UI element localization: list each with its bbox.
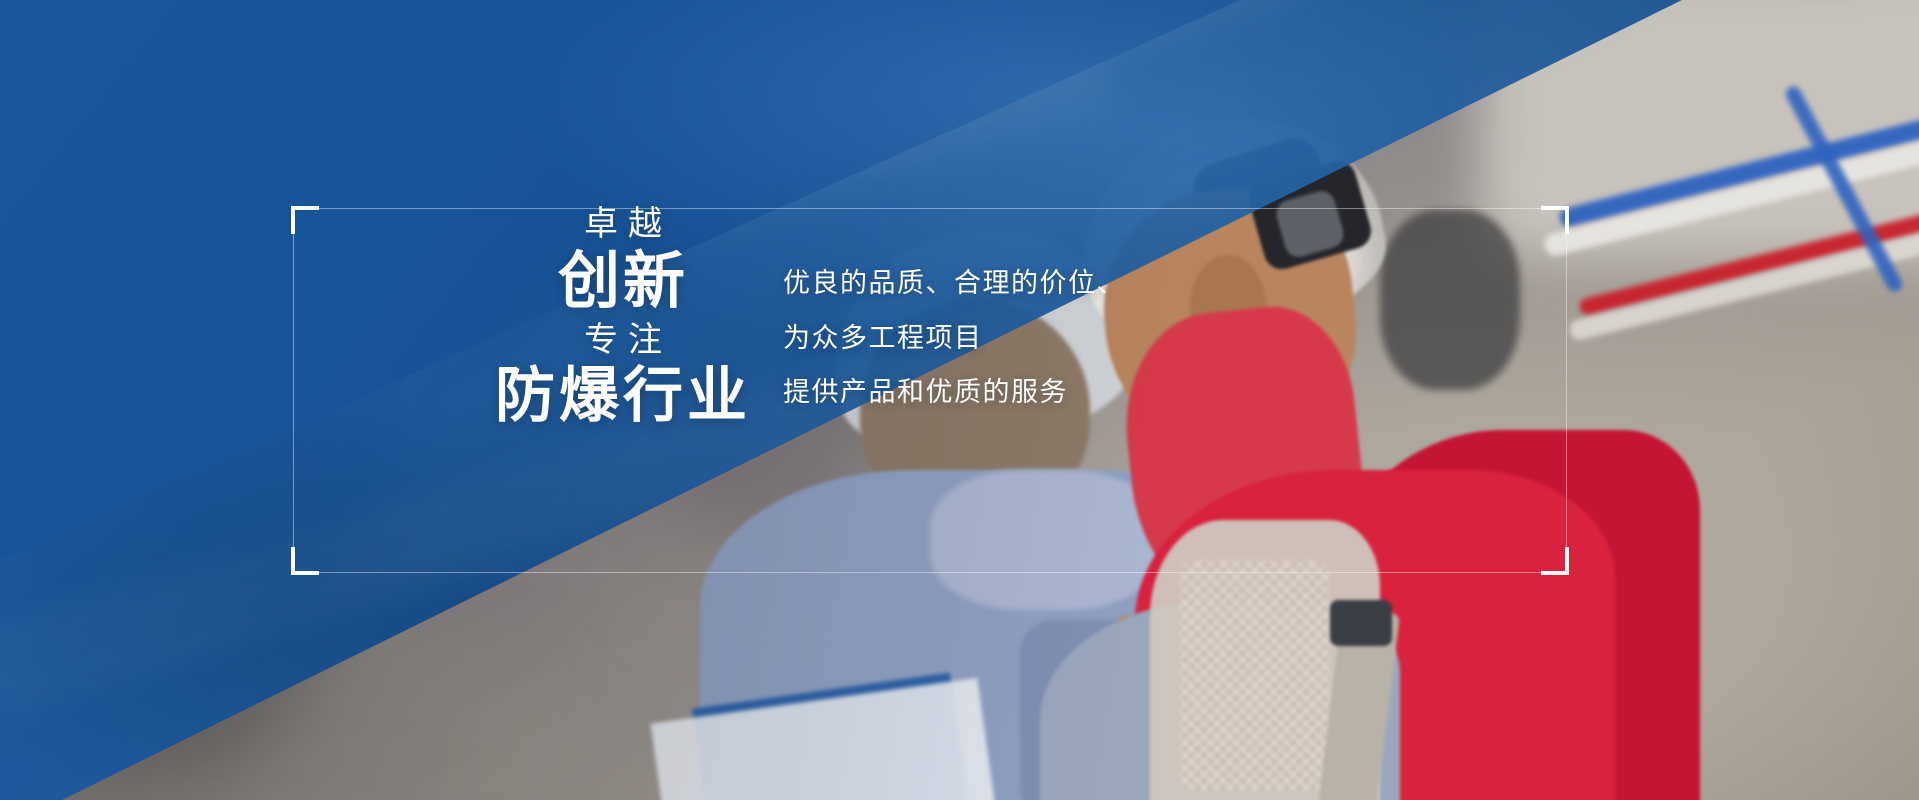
subcopy-line: 提供产品和优质的服务: [783, 365, 1343, 420]
headline-group: 卓越 创新 专注 防爆行业: [403, 202, 843, 431]
subcopy-line: 为众多工程项目: [783, 311, 1343, 366]
headline-main-2: 防爆行业: [403, 362, 843, 430]
headline-eyebrow-1: 卓越: [403, 202, 843, 247]
banner-content: 卓越 创新 专注 防爆行业 优良的品质、合理的价位、 为众多工程项目 提供产品和…: [293, 208, 1567, 573]
subcopy-line: 优良的品质、合理的价位、: [783, 256, 1343, 311]
subcopy-group: 优良的品质、合理的价位、 为众多工程项目 提供产品和优质的服务: [783, 256, 1343, 420]
headline-eyebrow-2: 专注: [403, 318, 843, 363]
headline-main-1: 创新: [403, 247, 843, 318]
hero-banner: 卓越 创新 专注 防爆行业 优良的品质、合理的价位、 为众多工程项目 提供产品和…: [0, 0, 1919, 800]
